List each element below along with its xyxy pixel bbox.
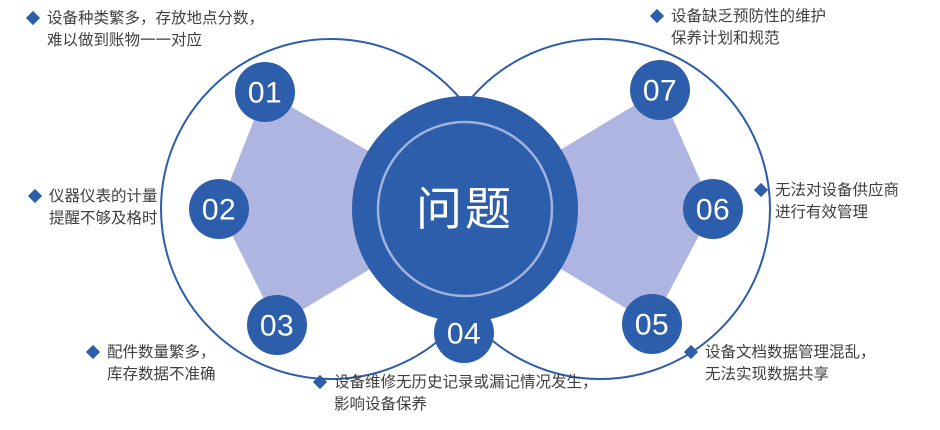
diamond-bullet-icon — [28, 189, 42, 203]
callout-07-text: 设备缺乏预防性的维护 保养计划和规范 — [671, 6, 826, 50]
callout-02-text: 仪器仪表的计量 提醒不够及格时 — [49, 186, 158, 230]
callout-05: 设备文档数据管理混乱， 无法实现数据共享 — [686, 342, 876, 386]
callout-01-text: 设备种类繁多，存放地点分数， 难以做到账物一一对应 — [47, 8, 264, 52]
callout-07: 设备缺乏预防性的维护 保养计划和规范 — [652, 6, 826, 50]
node-number-02: 02 — [202, 194, 236, 227]
node-number-03: 03 — [260, 310, 294, 343]
callout-05-text: 设备文档数据管理混乱， 无法实现数据共享 — [705, 342, 876, 386]
callout-07-line-1: 设备缺乏预防性的维护 — [671, 6, 826, 28]
callout-01-line-1: 设备种类繁多，存放地点分数， — [47, 8, 264, 30]
node-07[interactable]: 07 — [630, 60, 690, 120]
callout-04-text: 设备维修无历史记录或漏记情况发生， 影响设备保养 — [334, 372, 598, 416]
node-number-07: 07 — [643, 75, 677, 108]
callout-06-line-2: 进行有效管理 — [775, 202, 899, 224]
diamond-bullet-icon — [754, 183, 768, 197]
callout-04-line-2: 影响设备保养 — [334, 394, 598, 416]
callout-06-text: 无法对设备供应商 进行有效管理 — [775, 180, 899, 224]
diamond-bullet-icon — [26, 11, 40, 25]
callout-05-line-1: 设备文档数据管理混乱， — [705, 342, 876, 364]
node-06[interactable]: 06 — [683, 179, 743, 239]
diamond-bullet-icon — [684, 345, 698, 359]
callout-03: 配件数量繁多， 库存数据不准确 — [88, 342, 216, 386]
node-04[interactable]: 04 — [434, 303, 494, 363]
diamond-bullet-icon — [86, 345, 100, 359]
callout-02-line-2: 提醒不够及格时 — [49, 208, 158, 230]
callout-03-text: 配件数量繁多， 库存数据不准确 — [107, 342, 216, 386]
callout-04-line-1: 设备维修无历史记录或漏记情况发生， — [334, 372, 598, 394]
callout-06-line-1: 无法对设备供应商 — [775, 180, 899, 202]
callout-02-line-1: 仪器仪表的计量 — [49, 186, 158, 208]
callout-01: 设备种类繁多，存放地点分数， 难以做到账物一一对应 — [28, 8, 264, 52]
infographic-canvas: 问题 01 02 03 04 05 06 07 — [0, 0, 940, 430]
callout-06: 无法对设备供应商 进行有效管理 — [756, 180, 899, 224]
diamond-bullet-icon — [650, 9, 664, 23]
node-number-05: 05 — [635, 309, 669, 342]
callout-05-line-2: 无法实现数据共享 — [705, 364, 876, 386]
callout-04: 设备维修无历史记录或漏记情况发生， 影响设备保养 — [315, 372, 598, 416]
callout-07-line-2: 保养计划和规范 — [671, 28, 826, 50]
callout-02: 仪器仪表的计量 提醒不够及格时 — [30, 186, 158, 230]
callout-03-line-2: 库存数据不准确 — [107, 364, 216, 386]
node-03[interactable]: 03 — [247, 295, 307, 355]
node-02[interactable]: 02 — [189, 179, 249, 239]
callout-03-line-1: 配件数量繁多， — [107, 342, 216, 364]
node-05[interactable]: 05 — [622, 294, 682, 354]
center-label: 问题 — [416, 183, 514, 235]
node-number-01: 01 — [248, 77, 282, 110]
node-number-06: 06 — [696, 194, 730, 227]
callout-01-line-2: 难以做到账物一一对应 — [47, 30, 264, 52]
diamond-bullet-icon — [313, 375, 327, 389]
node-number-04: 04 — [447, 318, 481, 351]
node-01[interactable]: 01 — [235, 62, 295, 122]
